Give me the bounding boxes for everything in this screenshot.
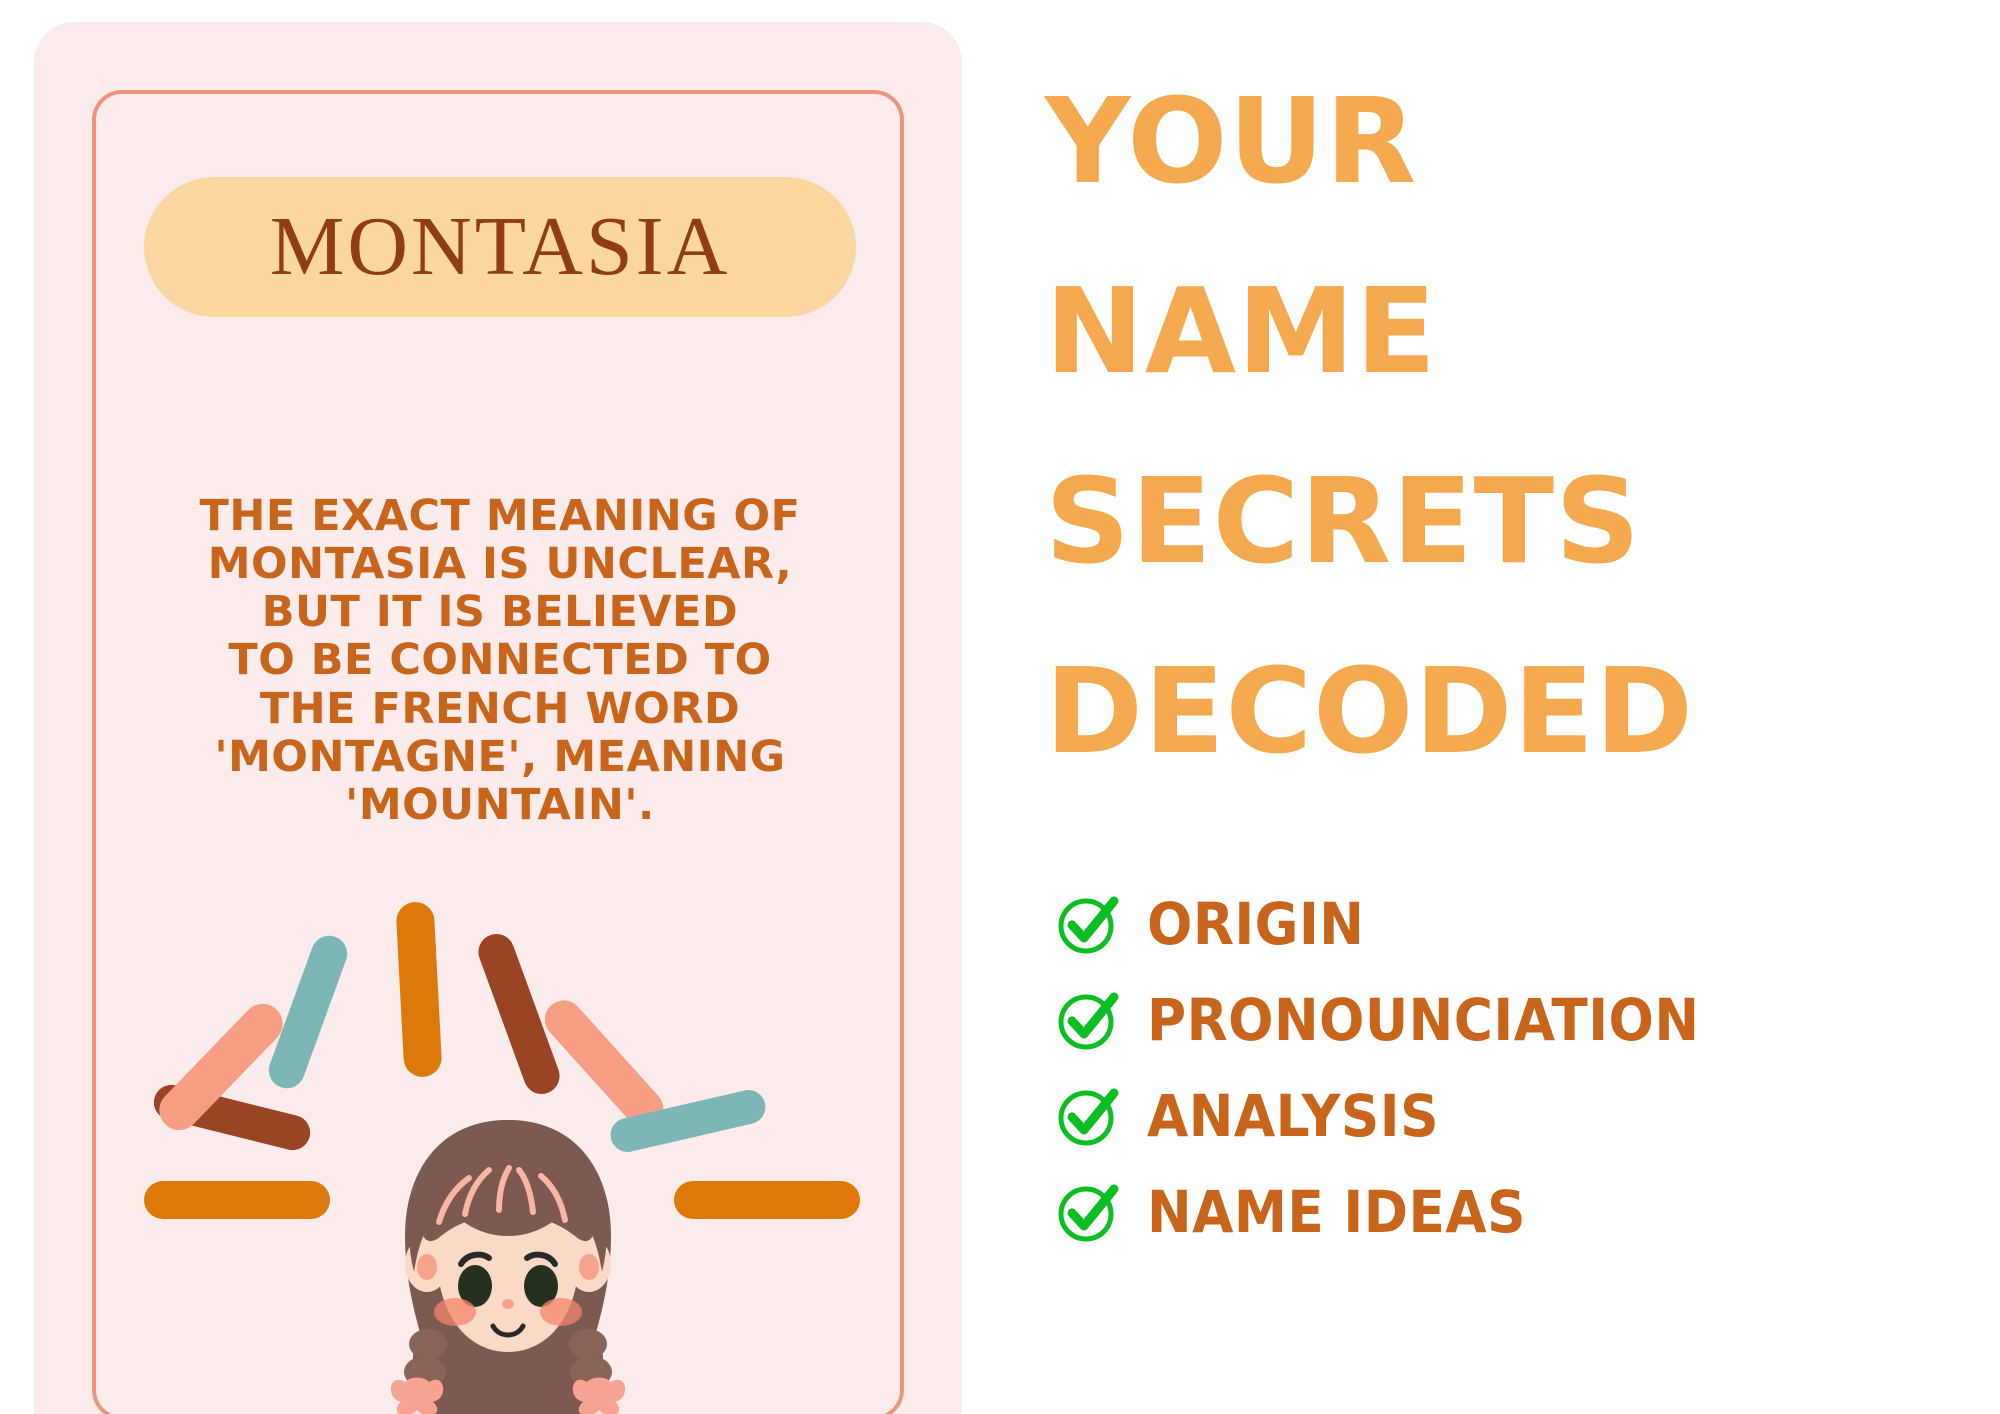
name-pill: MONTASIA (144, 177, 856, 317)
check-circle-icon (1055, 1179, 1121, 1245)
headline-line-1: YOUR (1045, 82, 1417, 200)
checklist-item-analysis[interactable]: ANALYSIS (1055, 1072, 1985, 1160)
checklist-item-label: ANALYSIS (1147, 1087, 1439, 1145)
check-circle-icon (1055, 1083, 1121, 1149)
headline-line-4: DECODED (1045, 652, 1694, 770)
name-meaning-text: THE EXACT MEANING OF MONTASIA IS UNCLEAR… (124, 492, 876, 829)
headline-line-2: NAME (1045, 272, 1437, 390)
checklist-item-label: PRONOUNCIATION (1147, 991, 1699, 1049)
checklist-item-origin[interactable]: ORIGIN (1055, 880, 1985, 968)
checklist-item-name-ideas[interactable]: NAME IDEAS (1055, 1168, 1985, 1256)
checklist-item-label: NAME IDEAS (1147, 1183, 1526, 1241)
ray-bar-left-orange (144, 1181, 330, 1219)
name-pill-label: MONTASIA (270, 205, 731, 289)
checklist-item-label: ORIGIN (1147, 895, 1364, 953)
check-circle-icon (1055, 891, 1121, 957)
ray-bar-right-orange (674, 1181, 860, 1219)
feature-checklist: ORIGIN PRONOUNCIATION (1055, 880, 1985, 1264)
right-panel: YOUR NAME SECRETS DECODED ORIGIN (1045, 0, 2000, 1414)
check-circle-icon (1055, 987, 1121, 1053)
girl-illustration (375, 1114, 641, 1414)
poster-canvas: MONTASIA THE EXACT MEANING OF MONTASIA I… (0, 0, 2000, 1414)
headline-line-3: SECRETS (1045, 462, 1641, 580)
name-card: MONTASIA THE EXACT MEANING OF MONTASIA I… (34, 22, 962, 1414)
checklist-item-pronounciation[interactable]: PRONOUNCIATION (1055, 976, 1985, 1064)
